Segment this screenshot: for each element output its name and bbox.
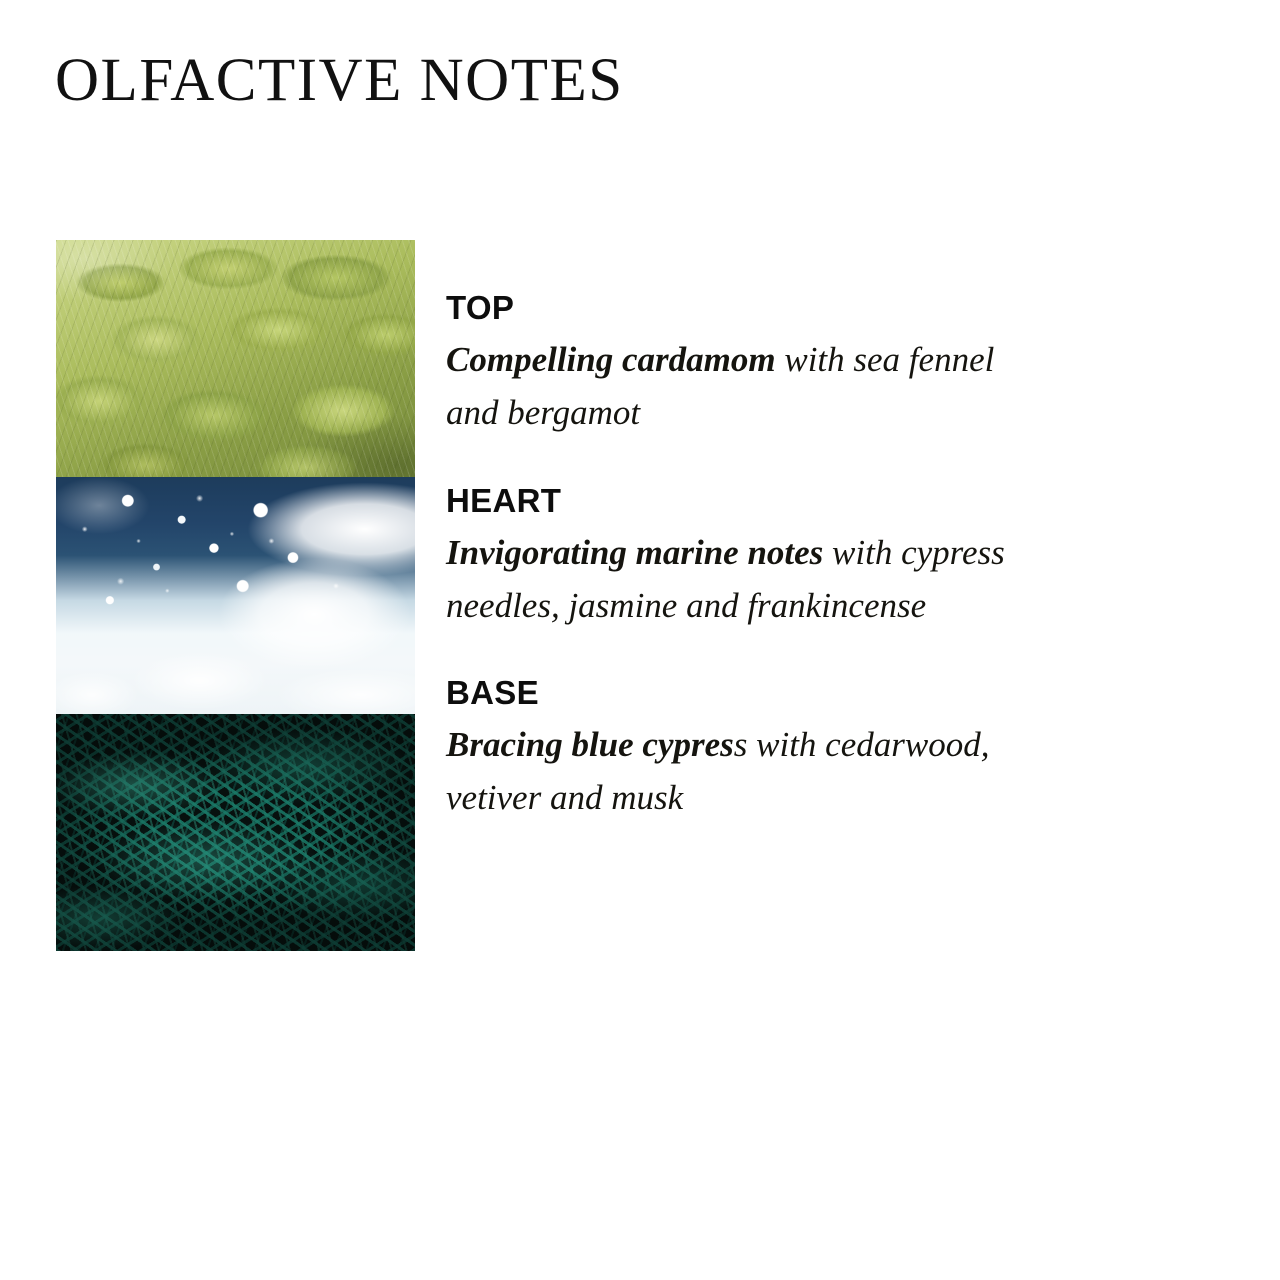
note-label-top: TOP <box>446 290 1046 327</box>
note-label-base: BASE <box>446 675 1046 712</box>
notes-block: TOP Compelling cardamom with sea fennel … <box>56 240 1056 951</box>
note-text-column: TOP Compelling cardamom with sea fennel … <box>446 240 1046 824</box>
note-entry-heart: HEART Invigorating marine notes with cyp… <box>446 483 1046 632</box>
note-accent-heart: Invigorating marine notes <box>446 533 823 572</box>
note-entry-top: TOP Compelling cardamom with sea fennel … <box>446 290 1046 439</box>
cardamom-pods-image <box>56 240 415 477</box>
blue-cypress-image <box>56 714 415 951</box>
note-description-heart: Invigorating marine notes with cypress n… <box>446 526 1031 632</box>
note-description-top: Compelling cardamom with sea fennel and … <box>446 333 1031 439</box>
note-label-heart: HEART <box>446 483 1046 520</box>
note-accent-base: Bracing blue cypres <box>446 725 734 764</box>
note-entry-base: BASE Bracing blue cypress with cedarwood… <box>446 675 1046 824</box>
note-image-column <box>56 240 415 951</box>
olfactive-notes-page: OLFACTIVE NOTES TOP Compelling cardamom … <box>0 0 1280 1280</box>
note-accent-top: Compelling cardamom <box>446 340 776 379</box>
note-description-base: Bracing blue cypress with cedarwood, vet… <box>446 718 1031 824</box>
sea-spray-image <box>56 477 415 714</box>
page-title: OLFACTIVE NOTES <box>55 50 624 111</box>
